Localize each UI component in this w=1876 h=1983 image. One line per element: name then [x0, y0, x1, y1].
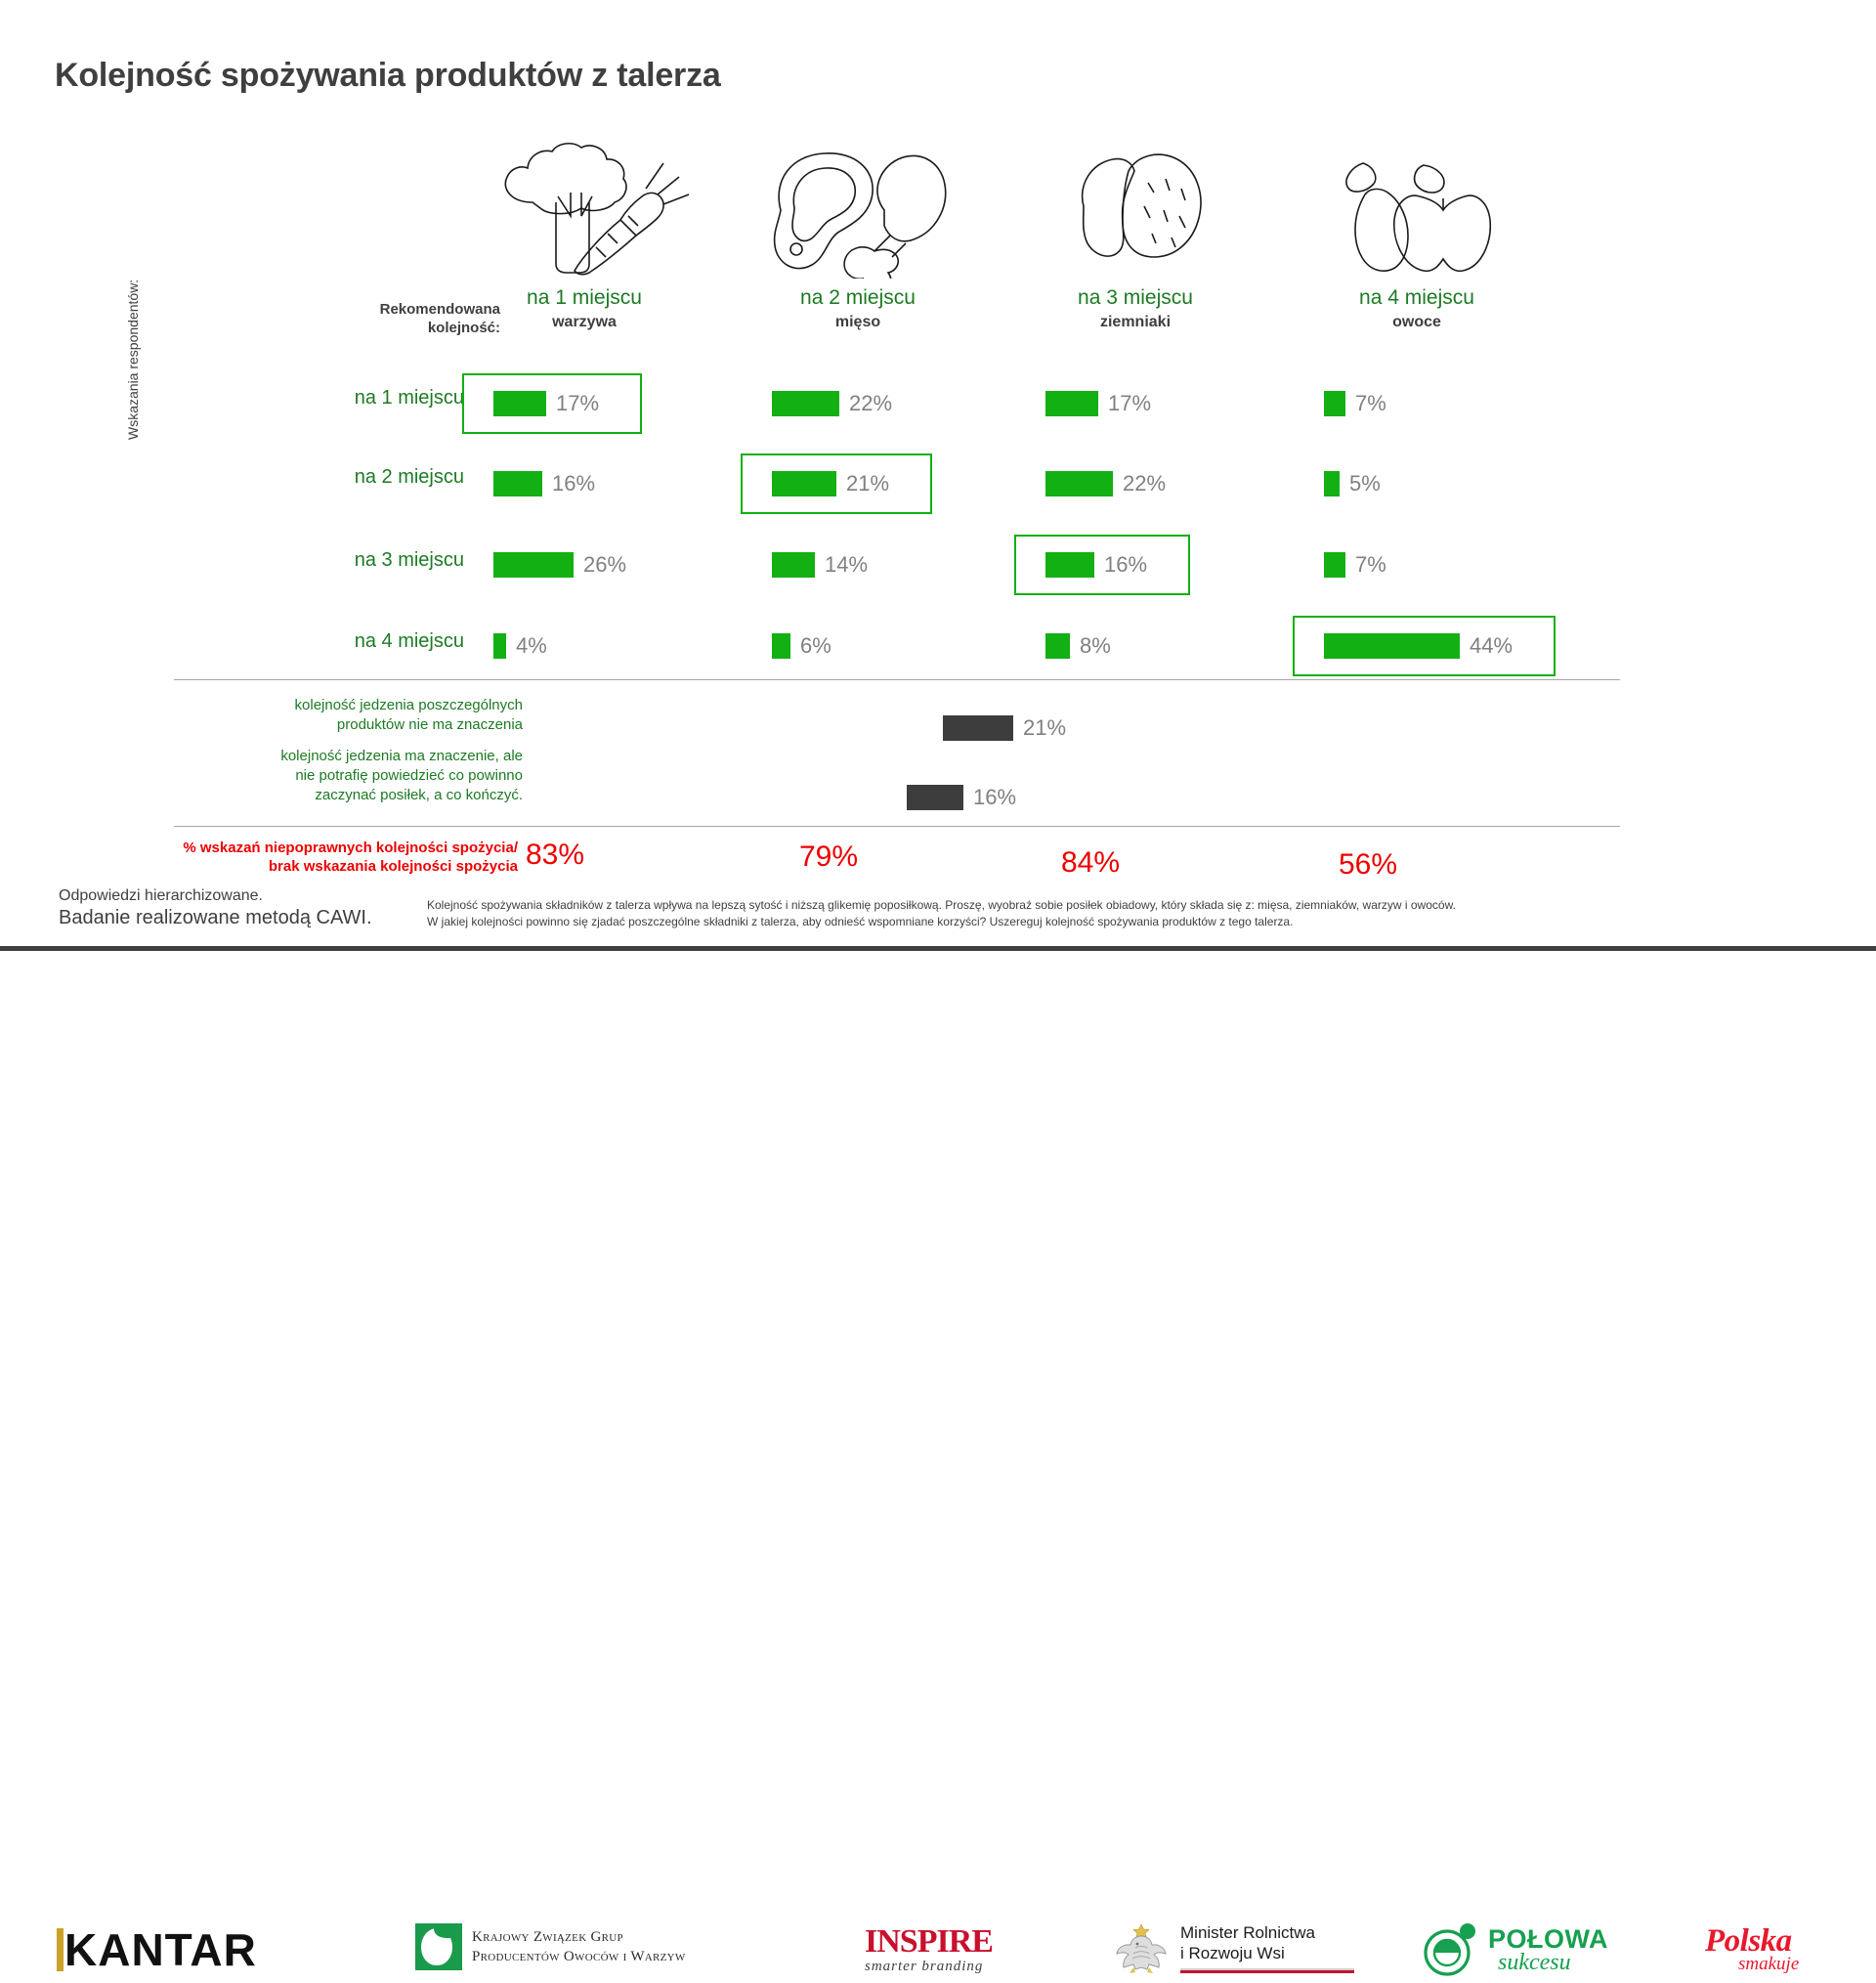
row-label-3: na 3 miejscu	[210, 549, 464, 572]
bar-value: 6%	[800, 633, 831, 659]
ministry-flag-rule	[1180, 1968, 1354, 1973]
column-header-ziemniaki: na 3 miejscu ziemniaki	[1018, 142, 1253, 331]
bar-green	[1045, 633, 1070, 659]
bar-value: 14%	[825, 552, 868, 578]
respondents-axis-label: Wskazania respondentów:	[125, 215, 141, 440]
bar-green	[772, 391, 839, 416]
bar-value: 17%	[1108, 391, 1151, 416]
matrix-cell: 6%	[772, 624, 831, 668]
polowa-wordmark: POŁOWA sukcesu	[1488, 1924, 1608, 1976]
method-note: Odpowiedzi hierarchizowane. Badanie real…	[59, 887, 372, 929]
row-label-1: na 1 miejscu	[210, 387, 464, 410]
bar-value: 7%	[1355, 552, 1386, 578]
bar-green	[1045, 552, 1094, 578]
kzgp-mark-icon	[415, 1923, 462, 1970]
column-header-rank: na 3 miejscu	[1018, 286, 1253, 310]
potato-icon	[1018, 142, 1253, 279]
bar-value: 5%	[1349, 471, 1381, 496]
bar-green	[493, 552, 574, 578]
question-note: Kolejność spożywania składników z talerz…	[427, 897, 1668, 931]
extra-row-bar-2: 16%	[907, 775, 1016, 820]
bar-value: 21%	[1023, 715, 1066, 741]
extra-row-bar-1: 21%	[943, 706, 1066, 751]
column-header-mieso: na 2 miejscu mięso	[741, 142, 975, 331]
recommended-order-label: Rekomendowana kolejność:	[315, 301, 500, 338]
column-header-warzywa: na 1 miejscu warzywa	[467, 142, 702, 331]
bar-value: 22%	[1123, 471, 1166, 496]
bar-green	[772, 471, 836, 496]
bar-value: 16%	[1104, 552, 1147, 578]
bar-value: 7%	[1355, 391, 1386, 416]
bar-value: 21%	[846, 471, 889, 496]
matrix-cell: 17%	[1045, 381, 1151, 426]
matrix-cell: 21%	[772, 461, 889, 506]
matrix-cell: 22%	[772, 381, 892, 426]
bar-dark	[907, 785, 963, 810]
bar-green	[772, 552, 815, 578]
bar-green	[1324, 471, 1340, 496]
kzgp-wordmark: Krajowy Związek Grup Producentów Owoców …	[472, 1927, 686, 1967]
bar-value: 4%	[516, 633, 547, 659]
meat-icon	[741, 142, 975, 279]
polowa-mark-icon	[1422, 1921, 1478, 1978]
bar-green	[493, 633, 506, 659]
matrix-cell: 7%	[1324, 381, 1386, 426]
kantar-logo: KANTAR	[57, 1923, 257, 1976]
ministry-wordmark: Minister Rolnictwa i Rozwoju Wsi	[1180, 1922, 1354, 1974]
bar-green	[1324, 633, 1460, 659]
bar-green	[772, 633, 790, 659]
bar-value: 26%	[583, 552, 626, 578]
kzgp-logo: Krajowy Związek Grup Producentów Owoców …	[415, 1923, 686, 1970]
polska-smakuje-logo: Polska smakuje	[1705, 1923, 1799, 1975]
bar-value: 44%	[1470, 633, 1513, 659]
summary-value-1: 83%	[526, 839, 584, 872]
summary-value-4: 56%	[1339, 848, 1397, 882]
inspire-wordmark: INSPIRE	[865, 1923, 993, 1961]
kantar-accent-bar	[57, 1928, 64, 1971]
bar-green	[1324, 552, 1345, 578]
matrix-cell: 16%	[493, 461, 595, 506]
row-label-2: na 2 miejscu	[210, 466, 464, 489]
bar-value: 8%	[1080, 633, 1111, 659]
summary-value-2: 79%	[799, 841, 858, 874]
inspire-tagline: smarter branding	[865, 1959, 993, 1975]
matrix-cell: 8%	[1045, 624, 1111, 668]
polowa-sukcesu-logo: POŁOWA sukcesu	[1422, 1921, 1608, 1978]
bar-green	[493, 471, 542, 496]
bar-dark	[943, 715, 1013, 741]
bar-green	[493, 391, 546, 416]
bar-green	[1045, 471, 1113, 496]
column-header-rank: na 1 miejscu	[467, 286, 702, 310]
matrix-divider	[174, 679, 1620, 680]
matrix-cell: 4%	[493, 624, 547, 668]
matrix-cell: 16%	[1045, 542, 1147, 587]
summary-divider	[174, 826, 1620, 827]
row-label-4: na 4 miejscu	[210, 630, 464, 653]
bar-value: 22%	[849, 391, 892, 416]
matrix-cell: 22%	[1045, 461, 1166, 506]
matrix-cell: 14%	[772, 542, 868, 587]
summary-label: % wskazań niepoprawnych kolejności spoży…	[103, 839, 518, 876]
extra-row-label-1: kolejność jedzenia poszczególnych produk…	[186, 696, 523, 735]
polska-tagline: smakuje	[1738, 1954, 1799, 1975]
bar-value: 16%	[552, 471, 595, 496]
inspire-logo: INSPIRE smarter branding	[865, 1923, 993, 1975]
matrix-cell: 17%	[493, 381, 599, 426]
slide-root: Kolejność spożywania produktów z talerza…	[0, 0, 1876, 1056]
column-header-product: owoce	[1300, 314, 1534, 331]
page-title: Kolejność spożywania produktów z talerza	[55, 57, 721, 95]
matrix-cell: 44%	[1324, 624, 1513, 668]
column-header-product: warzywa	[467, 314, 702, 331]
bar-green	[1324, 391, 1345, 416]
kantar-wordmark: KANTAR	[64, 1923, 257, 1976]
bar-green	[1045, 391, 1098, 416]
matrix-cell: 5%	[1324, 461, 1381, 506]
column-header-rank: na 4 miejscu	[1300, 286, 1534, 310]
bar-value: 17%	[556, 391, 599, 416]
summary-value-3: 84%	[1061, 846, 1120, 880]
column-header-product: mięso	[741, 314, 975, 331]
extra-row-label-2: kolejność jedzenia ma znaczenie, ale nie…	[186, 747, 523, 804]
column-header-rank: na 2 miejscu	[741, 286, 975, 310]
column-header-owoce: na 4 miejscu owoce	[1300, 142, 1534, 331]
logo-bar: KANTAR Krajowy Związek Grup Producentów …	[0, 951, 1876, 1056]
ministry-logo: Minister Rolnictwa i Rozwoju Wsi	[1114, 1918, 1354, 1977]
column-header-product: ziemniaki	[1018, 314, 1253, 331]
matrix-cell: 7%	[1324, 542, 1386, 587]
bar-value: 16%	[973, 785, 1016, 810]
polish-eagle-icon	[1114, 1918, 1169, 1977]
pear-apple-icon	[1300, 142, 1534, 279]
matrix-cell: 26%	[493, 542, 626, 587]
broccoli-carrot-icon	[467, 142, 702, 279]
